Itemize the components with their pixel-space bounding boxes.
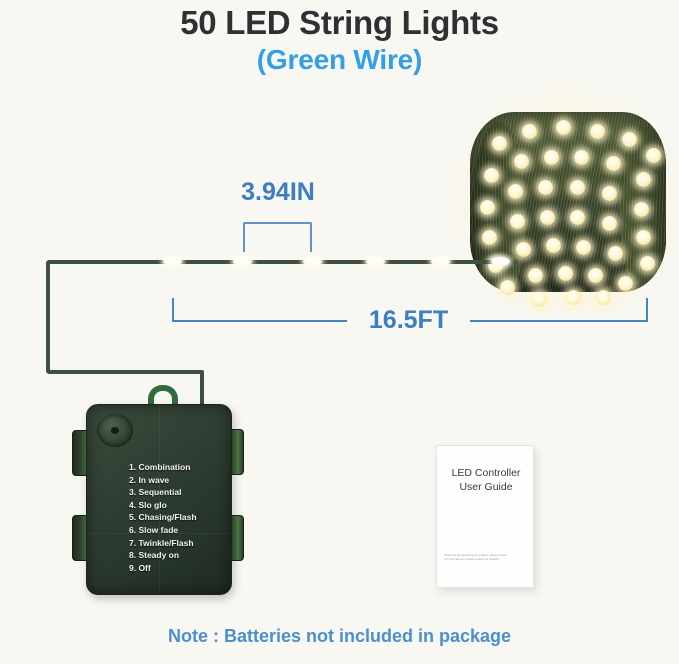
coil-led-dot [602,186,617,201]
user-guide-title: LED Controller User Guide [437,466,535,494]
wire-led-dot [366,257,385,266]
coil-led-dot [522,124,537,139]
mode-button[interactable] [97,414,133,447]
coil-led-dot [558,266,573,281]
coil-led-dot [574,150,589,165]
spacing-dimension-label: 3.94IN [206,178,350,207]
coil-led-dot [510,214,525,229]
coil-led-dot [608,246,623,261]
coil-led-dot [640,256,655,271]
coil-led-dot [532,292,547,307]
coil-led-dot [646,148,661,163]
mode-list-item: 2. In wave [129,474,197,487]
length-dimension-label: 16.5FT [347,305,470,335]
coil-led-dot [528,268,543,283]
length-dimension-line-left [172,320,347,322]
coil-led-dot [596,290,611,305]
user-guide-footer-line-2: us if you have any questions about our p… [444,558,528,562]
wire-led-dot [163,257,182,266]
coil-led-dot [636,172,651,187]
mode-button-indicator [111,427,119,434]
spacing-dimension-bracket [243,222,312,252]
mode-list: 1. Combination2. In wave3. Sequential4. … [129,461,197,574]
batteries-note: Note : Batteries not included in package [0,626,679,647]
controller-body: 1. Combination2. In wave3. Sequential4. … [86,404,232,595]
coil-led-dot [482,230,497,245]
mode-list-item: 9. Off [129,562,197,575]
mode-list-item: 6. Slow fade [129,524,197,537]
wire-segment-lower-horizontal [47,370,204,374]
length-dimension-line-right [470,320,648,322]
led-coil-spool [462,100,674,305]
coil-led-dot [590,124,605,139]
coil-led-dot [602,216,617,231]
coil-led-dot [606,156,621,171]
coil-led-dot [516,242,531,257]
user-guide-title-line-2: User Guide [437,480,535,494]
wire-led-dot [491,257,510,266]
mode-list-item: 1. Combination [129,461,197,474]
coil-led-dot [622,132,637,147]
user-guide-title-line-1: LED Controller [437,466,535,480]
coil-led-dot [508,184,523,199]
mode-list-item: 5. Chasing/Flash [129,511,197,524]
coil-led-dot [480,200,495,215]
coil-led-dot [570,210,585,225]
mode-list-item: 4. Slo glo [129,499,197,512]
coil-led-dot [514,154,529,169]
length-dimension-tick-right [646,298,648,322]
wire-segment-left-vertical [46,261,50,373]
coil-led-dot [636,230,651,245]
coil-led-dot [484,168,499,183]
wire-led-dot [233,257,252,266]
infographic-canvas: 50 LED String Lights (Green Wire) 3.94IN… [0,0,679,664]
wire-led-dot [303,257,322,266]
coil-led-dot [540,210,555,225]
coil-led-dot [618,276,633,291]
coil-led-dot [492,136,507,151]
page-subtitle: (Green Wire) [0,44,679,76]
coil-led-dot [570,180,585,195]
user-guide-booklet: LED Controller User Guide Thank you for … [436,445,534,588]
coil-led-dot [634,202,649,217]
coil-led-dot [538,180,553,195]
coil-led-dot [546,238,561,253]
mode-list-item: 3. Sequential [129,486,197,499]
user-guide-footer: Thank you for purchasing our products, p… [444,554,528,562]
coil-led-dot [588,268,603,283]
length-dimension-tick-left [172,298,174,322]
coil-led-dot [566,290,581,305]
coil-led-dot [556,120,571,135]
coil-led-dot [544,150,559,165]
mode-list-item: 7. Twinkle/Flash [129,537,197,550]
coil-led-dot [576,240,591,255]
coil-led-dot [500,280,515,295]
mode-list-item: 8. Steady on [129,549,197,562]
wire-led-dot [431,257,450,266]
page-title: 50 LED String Lights [0,4,679,42]
battery-box-controller: 1. Combination2. In wave3. Sequential4. … [70,385,255,620]
